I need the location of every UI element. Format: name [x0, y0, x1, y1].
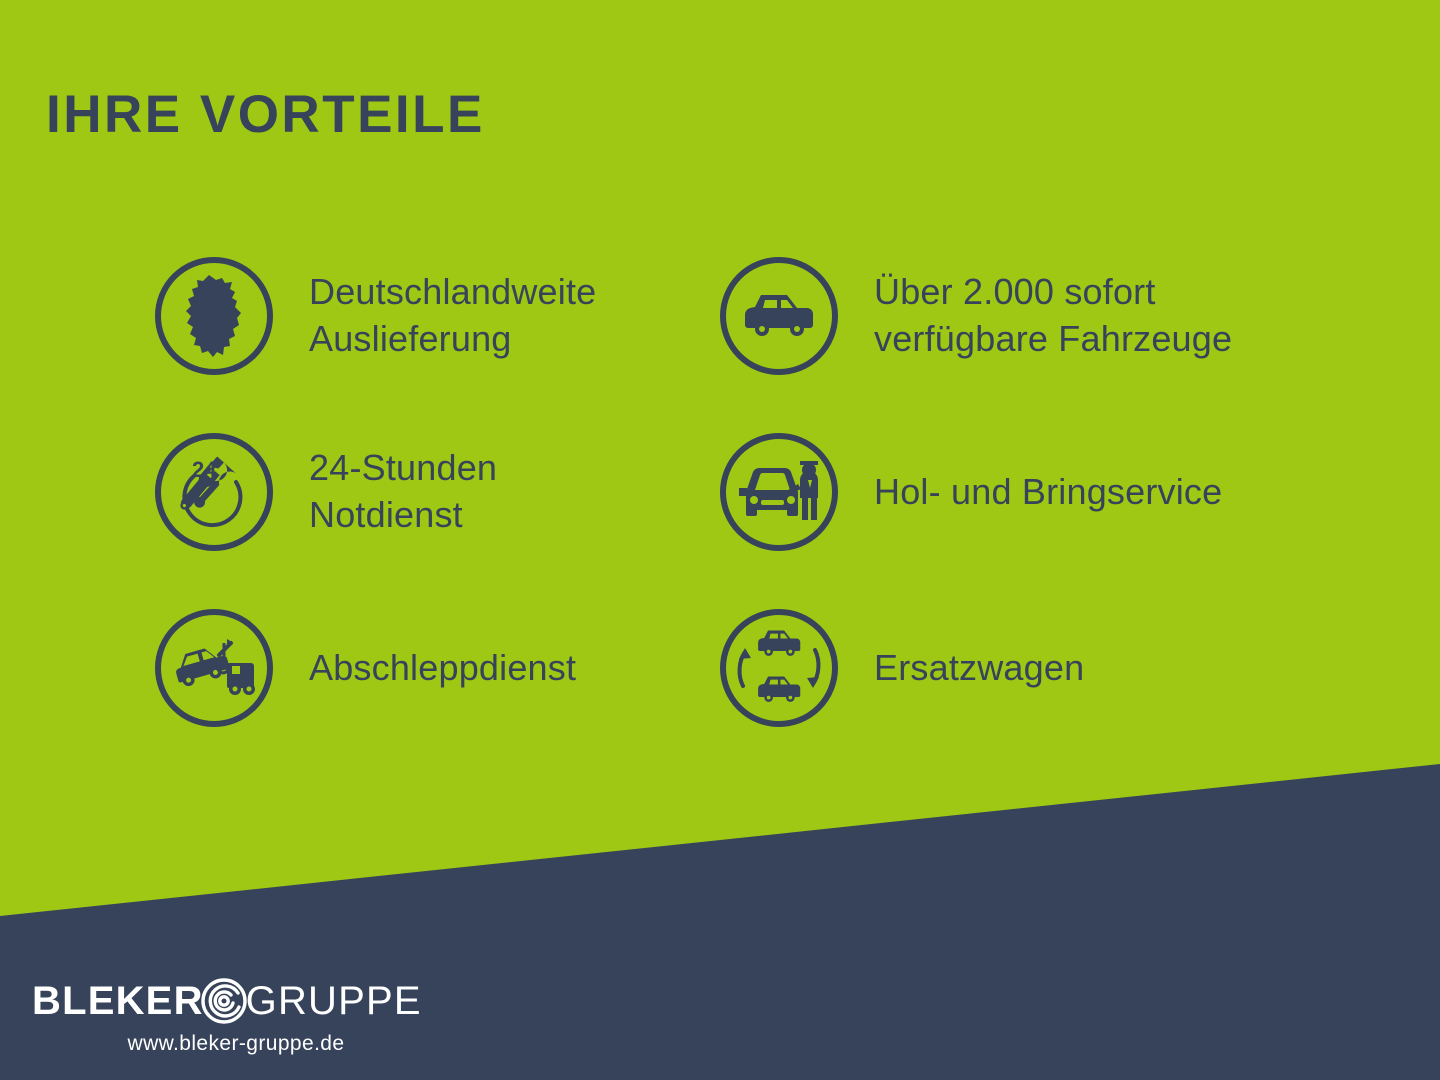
tow-truck-icon — [155, 609, 273, 727]
benefit-label: Abschleppdienst — [309, 645, 576, 692]
benefit-item-ersatzwagen: Ersatzwagen — [720, 580, 1285, 756]
benefit-label: Ersatzwagen — [874, 645, 1084, 692]
benefits-grid: Deutschlandweite Auslieferung Über 2.000… — [155, 228, 1355, 756]
benefit-label: 24-Stunden Notdienst — [309, 445, 497, 539]
benefit-label: Hol- und Bringservice — [874, 469, 1222, 516]
logo-row: BLEKER GRUPPE — [32, 978, 412, 1024]
slide-root: IHRE VORTEILE Deutschlandweite Ausliefer… — [0, 0, 1440, 1080]
benefit-label: Über 2.000 sofort verfügbare Fahrzeuge — [874, 269, 1232, 363]
benefit-item-deutschlandweite-auslieferung: Deutschlandweite Auslieferung — [155, 228, 720, 404]
footer-website-url[interactable]: www.bleker-gruppe.de — [32, 1032, 412, 1056]
benefit-item-verfuegbare-fahrzeuge: Über 2.000 sofort verfügbare Fahrzeuge — [720, 228, 1285, 404]
benefit-item-24-stunden-notdienst: 24 24-Stunden Notdienst — [155, 404, 720, 580]
logo-secondary-text: GRUPPE — [246, 981, 422, 1021]
germany-map-icon — [155, 257, 273, 375]
car-exchange-icon — [720, 609, 838, 727]
spiral-circle-logo-icon — [198, 973, 250, 1030]
car-side-icon — [720, 257, 838, 375]
benefit-item-hol-und-bringservice: Hol- und Bringservice — [720, 404, 1285, 580]
benefit-item-abschleppdienst: Abschleppdienst — [155, 580, 720, 756]
24-hour-wrench-icon: 24 — [155, 433, 273, 551]
benefit-label: Deutschlandweite Auslieferung — [309, 269, 596, 363]
car-with-driver-icon — [720, 433, 838, 551]
page-title: IHRE VORTEILE — [46, 88, 485, 141]
footer-logo-block: BLEKER GRUPPE www.bleker-gruppe.de — [32, 978, 412, 1056]
logo-primary-text: BLEKER — [32, 981, 204, 1021]
